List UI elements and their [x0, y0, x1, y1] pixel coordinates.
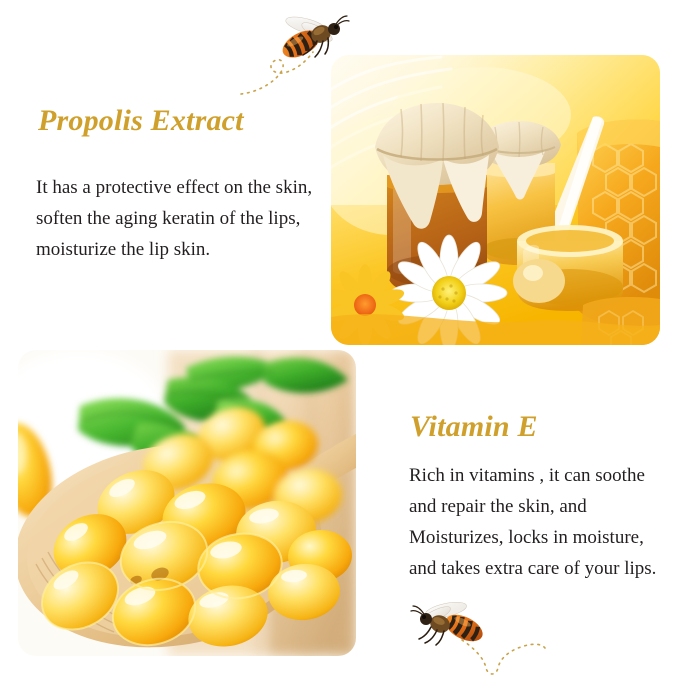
- bee-top: [233, 14, 351, 102]
- bee-icon: [400, 600, 546, 678]
- vitamin-e-section-title: Vitamin E: [410, 412, 538, 442]
- honey-jars-illustration: [331, 55, 660, 345]
- vitamin-e-section-body: Rich in vitamins , it can soothe and rep…: [409, 460, 657, 584]
- bee-bottom: [400, 600, 546, 678]
- product-feature-graphic: Propolis Extract It has a protective eff…: [0, 0, 679, 679]
- propolis-section-title: Propolis Extract: [38, 106, 244, 136]
- vitamin-e-capsules-photo: [18, 350, 356, 656]
- bee-trail: [241, 52, 313, 94]
- vitamin-capsules-illustration: [18, 350, 356, 656]
- bee-icon: [233, 14, 351, 102]
- bee-trail: [462, 640, 545, 674]
- propolis-section-body: It has a protective effect on the skin, …: [36, 172, 326, 265]
- honey-jars-photo: [331, 55, 660, 345]
